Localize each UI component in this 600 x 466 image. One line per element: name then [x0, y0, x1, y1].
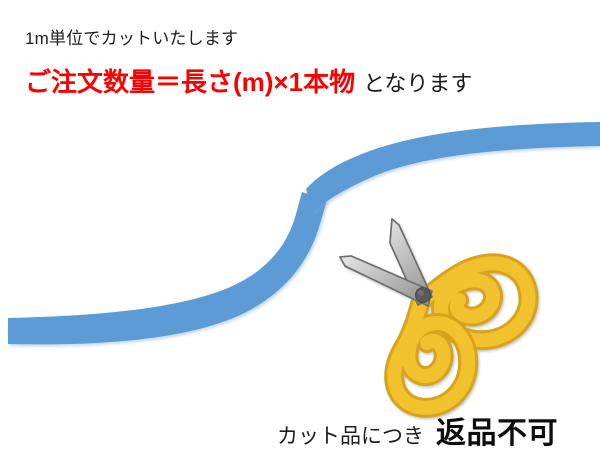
illustration-page: 1m単位でカットいたします ご注文数量＝長さ(m)×1本物となります カット品に…: [0, 0, 600, 466]
scissor-handle-lower: [394, 304, 468, 408]
cable-segment-left: [8, 192, 327, 344]
footer-note-prefix: カット品につき: [277, 425, 424, 448]
footer-note-emphasis: 返品不可: [436, 417, 558, 450]
headline-line-2: ご注文数量＝長さ(m)×1本物となります: [25, 68, 472, 98]
headline-black-suffix: となります: [363, 71, 472, 96]
headline-red-formula: ご注文数量＝長さ(m)×1本物: [25, 67, 355, 97]
footer-note: カット品につき返品不可: [277, 419, 558, 449]
headline-line-1: 1m単位でカットいたします: [25, 30, 238, 47]
cable-segment-right: [306, 122, 600, 212]
scissors: [340, 219, 529, 408]
scissor-pivot-highlight: [418, 290, 424, 296]
